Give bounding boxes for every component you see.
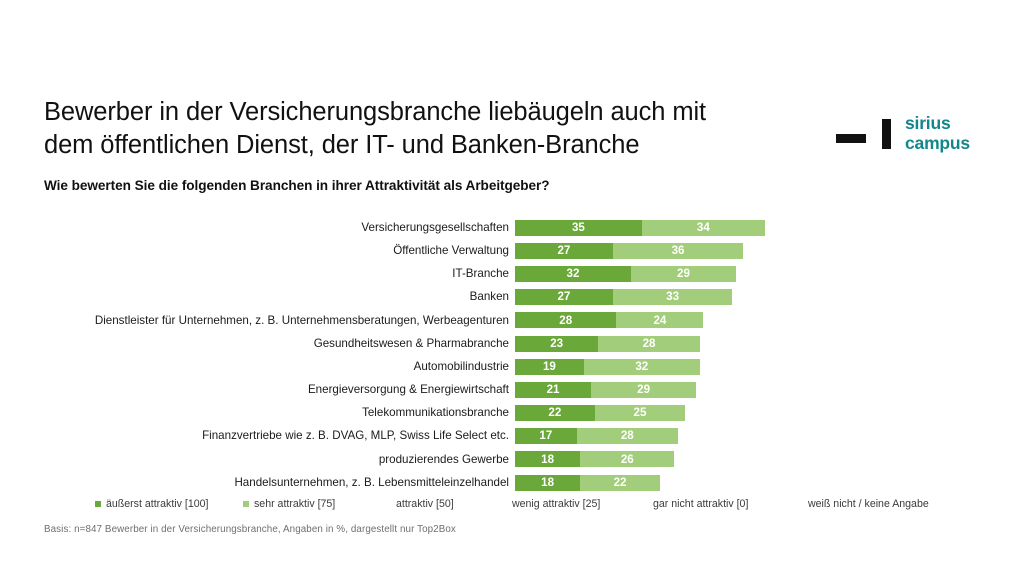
legend-label: attraktiv [50] bbox=[396, 499, 454, 510]
chart-row: Gesundheitswesen & Pharmabranche2328 bbox=[0, 332, 1024, 355]
bar-segment-sehr-attraktiv: 29 bbox=[591, 382, 696, 398]
chart-row-label: produzierendes Gewerbe bbox=[0, 454, 509, 466]
chart-row-bars: 3229 bbox=[515, 266, 736, 282]
legend-item: sehr attraktiv [75] bbox=[243, 499, 335, 510]
legend-item: attraktiv [50] bbox=[396, 499, 454, 510]
chart-question: Wie bewerten Sie die folgenden Branchen … bbox=[44, 178, 550, 193]
bar-segment-sehr-attraktiv: 32 bbox=[584, 359, 700, 375]
bar-segment-sehr-attraktiv: 29 bbox=[631, 266, 736, 282]
logo-bar-icon bbox=[882, 119, 891, 149]
chart-row-label: Banken bbox=[0, 291, 509, 303]
bar-segment-aeusserst-attraktiv: 32 bbox=[515, 266, 631, 282]
legend-label: sehr attraktiv [75] bbox=[254, 499, 335, 510]
chart-row: Energieversorgung & Energiewirtschaft212… bbox=[0, 378, 1024, 401]
bar-segment-sehr-attraktiv: 36 bbox=[613, 243, 743, 259]
chart-row: Banken2733 bbox=[0, 286, 1024, 309]
slide-root: Bewerber in der Versicherungsbranche lie… bbox=[0, 0, 1024, 576]
legend-label: weiß nicht / keine Angabe bbox=[808, 499, 929, 510]
chart-row-label: Telekommunikationsbranche bbox=[0, 407, 509, 419]
bar-segment-aeusserst-attraktiv: 17 bbox=[515, 428, 577, 444]
chart-row-label: Dienstleister für Unternehmen, z. B. Unt… bbox=[0, 315, 509, 327]
bar-segment-aeusserst-attraktiv: 35 bbox=[515, 220, 642, 236]
chart-row-bars: 2225 bbox=[515, 405, 685, 421]
chart-row-bars: 2824 bbox=[515, 312, 703, 328]
chart-row-label: Öffentliche Verwaltung bbox=[0, 245, 509, 257]
legend-label: gar nicht attraktiv [0] bbox=[653, 499, 748, 510]
chart-row-label: Handelsunternehmen, z. B. Lebensmittelei… bbox=[0, 477, 509, 489]
chart-row-label: Energieversorgung & Energiewirtschaft bbox=[0, 384, 509, 396]
legend-swatch-icon bbox=[95, 501, 101, 507]
chart-row: produzierendes Gewerbe1826 bbox=[0, 448, 1024, 471]
bar-segment-aeusserst-attraktiv: 27 bbox=[515, 289, 613, 305]
header: Bewerber in der Versicherungsbranche lie… bbox=[44, 96, 834, 161]
chart-row-bars: 2733 bbox=[515, 289, 732, 305]
stacked-bar-chart: Versicherungsgesellschaften3534Öffentlic… bbox=[0, 216, 1024, 492]
bar-segment-sehr-attraktiv: 26 bbox=[580, 451, 674, 467]
bar-segment-sehr-attraktiv: 22 bbox=[580, 475, 660, 491]
chart-row: Versicherungsgesellschaften3534 bbox=[0, 216, 1024, 239]
logo-wordmark: sirius campus bbox=[905, 114, 970, 153]
chart-row-bars: 2736 bbox=[515, 243, 743, 259]
page-title: Bewerber in der Versicherungsbranche lie… bbox=[44, 96, 834, 161]
legend-label: wenig attraktiv [25] bbox=[512, 499, 600, 510]
bar-segment-sehr-attraktiv: 28 bbox=[598, 336, 699, 352]
chart-row: Automobilindustrie1932 bbox=[0, 355, 1024, 378]
bar-segment-sehr-attraktiv: 33 bbox=[613, 289, 733, 305]
bar-segment-aeusserst-attraktiv: 28 bbox=[515, 312, 616, 328]
legend-swatch-icon bbox=[243, 501, 249, 507]
chart-row-bars: 1932 bbox=[515, 359, 700, 375]
chart-row: Finanzvertriebe wie z. B. DVAG, MLP, Swi… bbox=[0, 425, 1024, 448]
legend-label: äußerst attraktiv [100] bbox=[106, 499, 208, 510]
bar-segment-sehr-attraktiv: 28 bbox=[577, 428, 678, 444]
legend-item: äußerst attraktiv [100] bbox=[95, 499, 208, 510]
chart-row-label: IT-Branche bbox=[0, 268, 509, 280]
bar-segment-aeusserst-attraktiv: 18 bbox=[515, 451, 580, 467]
bar-segment-sehr-attraktiv: 34 bbox=[642, 220, 765, 236]
chart-basis-footnote: Basis: n=847 Bewerber in der Versicherun… bbox=[44, 524, 456, 535]
legend-item: gar nicht attraktiv [0] bbox=[653, 499, 748, 510]
chart-row-bars: 1826 bbox=[515, 451, 674, 467]
chart-row: IT-Branche3229 bbox=[0, 262, 1024, 285]
legend-item: wenig attraktiv [25] bbox=[512, 499, 600, 510]
chart-row: Telekommunikationsbranche2225 bbox=[0, 402, 1024, 425]
chart-row: Öffentliche Verwaltung2736 bbox=[0, 239, 1024, 262]
logo-dash-icon bbox=[836, 134, 866, 143]
legend-item: weiß nicht / keine Angabe bbox=[808, 499, 929, 510]
chart-row-bars: 1822 bbox=[515, 475, 660, 491]
chart-row-bars: 1728 bbox=[515, 428, 678, 444]
chart-row-label: Finanzvertriebe wie z. B. DVAG, MLP, Swi… bbox=[0, 430, 509, 442]
bar-segment-aeusserst-attraktiv: 27 bbox=[515, 243, 613, 259]
chart-row: Handelsunternehmen, z. B. Lebensmittelei… bbox=[0, 471, 1024, 494]
chart-row-label: Versicherungsgesellschaften bbox=[0, 222, 509, 234]
chart-row-bars: 3534 bbox=[515, 220, 765, 236]
chart-row: Dienstleister für Unternehmen, z. B. Unt… bbox=[0, 309, 1024, 332]
chart-row-label: Automobilindustrie bbox=[0, 361, 509, 373]
bar-segment-aeusserst-attraktiv: 23 bbox=[515, 336, 598, 352]
sirius-campus-logo: sirius campus bbox=[836, 108, 996, 160]
chart-row-label: Gesundheitswesen & Pharmabranche bbox=[0, 338, 509, 350]
bar-segment-aeusserst-attraktiv: 22 bbox=[515, 405, 595, 421]
chart-legend: äußerst attraktiv [100]sehr attraktiv [7… bbox=[0, 499, 1024, 517]
bar-segment-sehr-attraktiv: 25 bbox=[595, 405, 686, 421]
chart-row-bars: 2328 bbox=[515, 336, 700, 352]
bar-segment-sehr-attraktiv: 24 bbox=[616, 312, 703, 328]
bar-segment-aeusserst-attraktiv: 19 bbox=[515, 359, 584, 375]
bar-segment-aeusserst-attraktiv: 21 bbox=[515, 382, 591, 398]
bar-segment-aeusserst-attraktiv: 18 bbox=[515, 475, 580, 491]
chart-row-bars: 2129 bbox=[515, 382, 696, 398]
